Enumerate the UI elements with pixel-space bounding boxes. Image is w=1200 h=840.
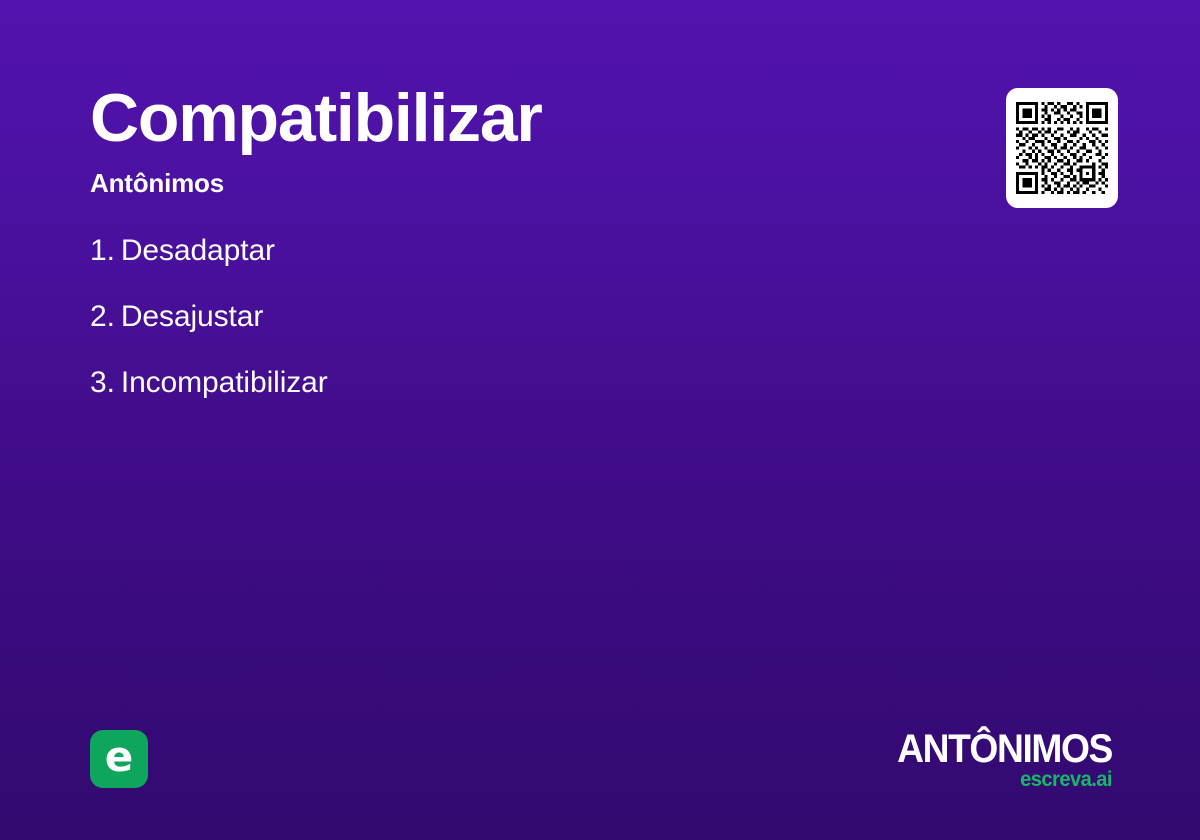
wordmark-domain: escreva.ai — [890, 769, 1112, 790]
wordmark-title: ANTÔNIMOS — [897, 731, 1112, 768]
qr-code-icon[interactable] — [1006, 88, 1118, 208]
escreva-e-logo-icon: e — [90, 730, 148, 788]
list-item: 2.Desajustar — [90, 302, 890, 332]
category-label: Antônimos — [90, 170, 950, 196]
brand-mark-letter: e — [105, 736, 134, 778]
list-item-term: Desajustar — [121, 300, 263, 333]
antonyms-card: Compatibilizar Antônimos — [0, 0, 1200, 840]
list-item-index: 3. — [90, 366, 115, 399]
brand-wordmark: ANTÔNIMOS escreva.ai — [881, 731, 1112, 790]
list-item-term: Desadaptar — [121, 234, 275, 267]
list-item-index: 1. — [90, 234, 115, 267]
list-item: 1.Desadaptar — [90, 236, 890, 266]
header: Compatibilizar Antônimos — [90, 84, 950, 196]
list-item: 3.Incompatibilizar — [90, 368, 890, 398]
list-item-term: Incompatibilizar — [121, 366, 328, 399]
antonyms-list: 1.Desadaptar 2.Desajustar 3.Incompatibil… — [90, 236, 890, 398]
page-title: Compatibilizar — [90, 84, 950, 152]
list-item-index: 2. — [90, 300, 115, 333]
